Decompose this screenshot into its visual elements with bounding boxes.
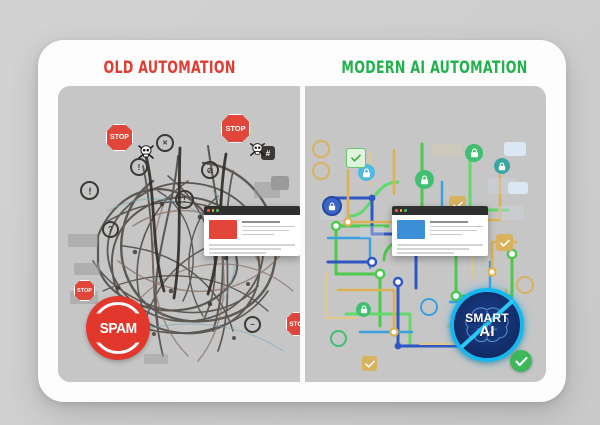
lock-icon — [356, 302, 371, 317]
check-icon — [362, 356, 377, 371]
close-marker[interactable]: ✕ — [0, 404, 600, 416]
comparison-card: OLD AUTOMATION MODERN AI AUTOMATION — [38, 40, 566, 402]
old-browser-mockup — [204, 206, 300, 256]
browser-body — [204, 215, 300, 244]
browser-footer-lines — [392, 244, 488, 254]
smart-ai-badge: SMART AI — [450, 288, 524, 362]
browser-thumbnail — [397, 220, 425, 239]
user-chip-icon — [312, 162, 330, 180]
stop-sign-label: STOP — [77, 288, 92, 294]
shield-chip-icon — [516, 276, 534, 294]
message-chip-icon — [508, 182, 528, 194]
error-chip-icon: ! — [175, 190, 194, 209]
minus-chip-icon: – — [244, 316, 261, 333]
spam-badge-label: SPAM — [99, 320, 136, 337]
lock-icon — [465, 144, 483, 162]
left-title: OLD AUTOMATION — [38, 52, 302, 84]
browser-footer-lines — [204, 244, 300, 254]
browser-text-lines — [430, 220, 483, 239]
comparison-image-panel: ? ! ✕ ! # ⊘ – — [58, 86, 546, 382]
question-chip-icon: ? — [102, 221, 119, 238]
node-chip-icon — [330, 330, 347, 347]
message-chip-icon — [504, 142, 526, 156]
skull-icon — [136, 142, 156, 167]
bug-chip-icon: ✕ — [156, 134, 174, 152]
close-icon[interactable]: ✕ — [295, 403, 305, 417]
stop-sign-label: STOP — [110, 134, 129, 141]
browser-text-lines — [242, 220, 295, 239]
list-chip-icon — [271, 176, 289, 190]
right-title: MODERN AI AUTOMATION — [302, 52, 566, 84]
block-chip-icon: ⊘ — [201, 161, 219, 179]
check-icon — [515, 356, 528, 367]
smart-ai-label-bottom: AI — [465, 324, 509, 339]
user-chip-icon — [312, 140, 330, 158]
stop-sign-label: STOP — [225, 124, 245, 133]
browser-titlebar — [204, 206, 300, 215]
titles-row: OLD AUTOMATION MODERN AI AUTOMATION — [38, 52, 566, 84]
spam-badge: SPAM — [86, 296, 150, 360]
right-title-text: MODERN AI AUTOMATION — [341, 58, 527, 78]
lock-icon — [415, 170, 434, 189]
modern-browser-mockup — [392, 206, 488, 256]
browser-titlebar — [392, 206, 488, 215]
smart-ai-badge-label: SMART AI — [465, 312, 509, 339]
user-chip-icon — [420, 298, 438, 316]
lock-icon — [494, 158, 510, 174]
panel-divider — [300, 86, 305, 382]
browser-thumbnail — [209, 220, 237, 239]
check-icon — [346, 148, 366, 168]
left-title-text: OLD AUTOMATION — [104, 58, 236, 78]
alert-chip-icon — [80, 181, 99, 200]
success-check-badge — [510, 350, 532, 372]
stop-sign: STOP — [221, 114, 250, 143]
lock-icon — [322, 196, 342, 216]
stop-sign: STOP — [106, 124, 133, 151]
check-icon — [496, 234, 513, 251]
skull-icon — [248, 140, 267, 164]
screenshot-root: OLD AUTOMATION MODERN AI AUTOMATION — [0, 0, 600, 425]
browser-body — [392, 215, 488, 244]
